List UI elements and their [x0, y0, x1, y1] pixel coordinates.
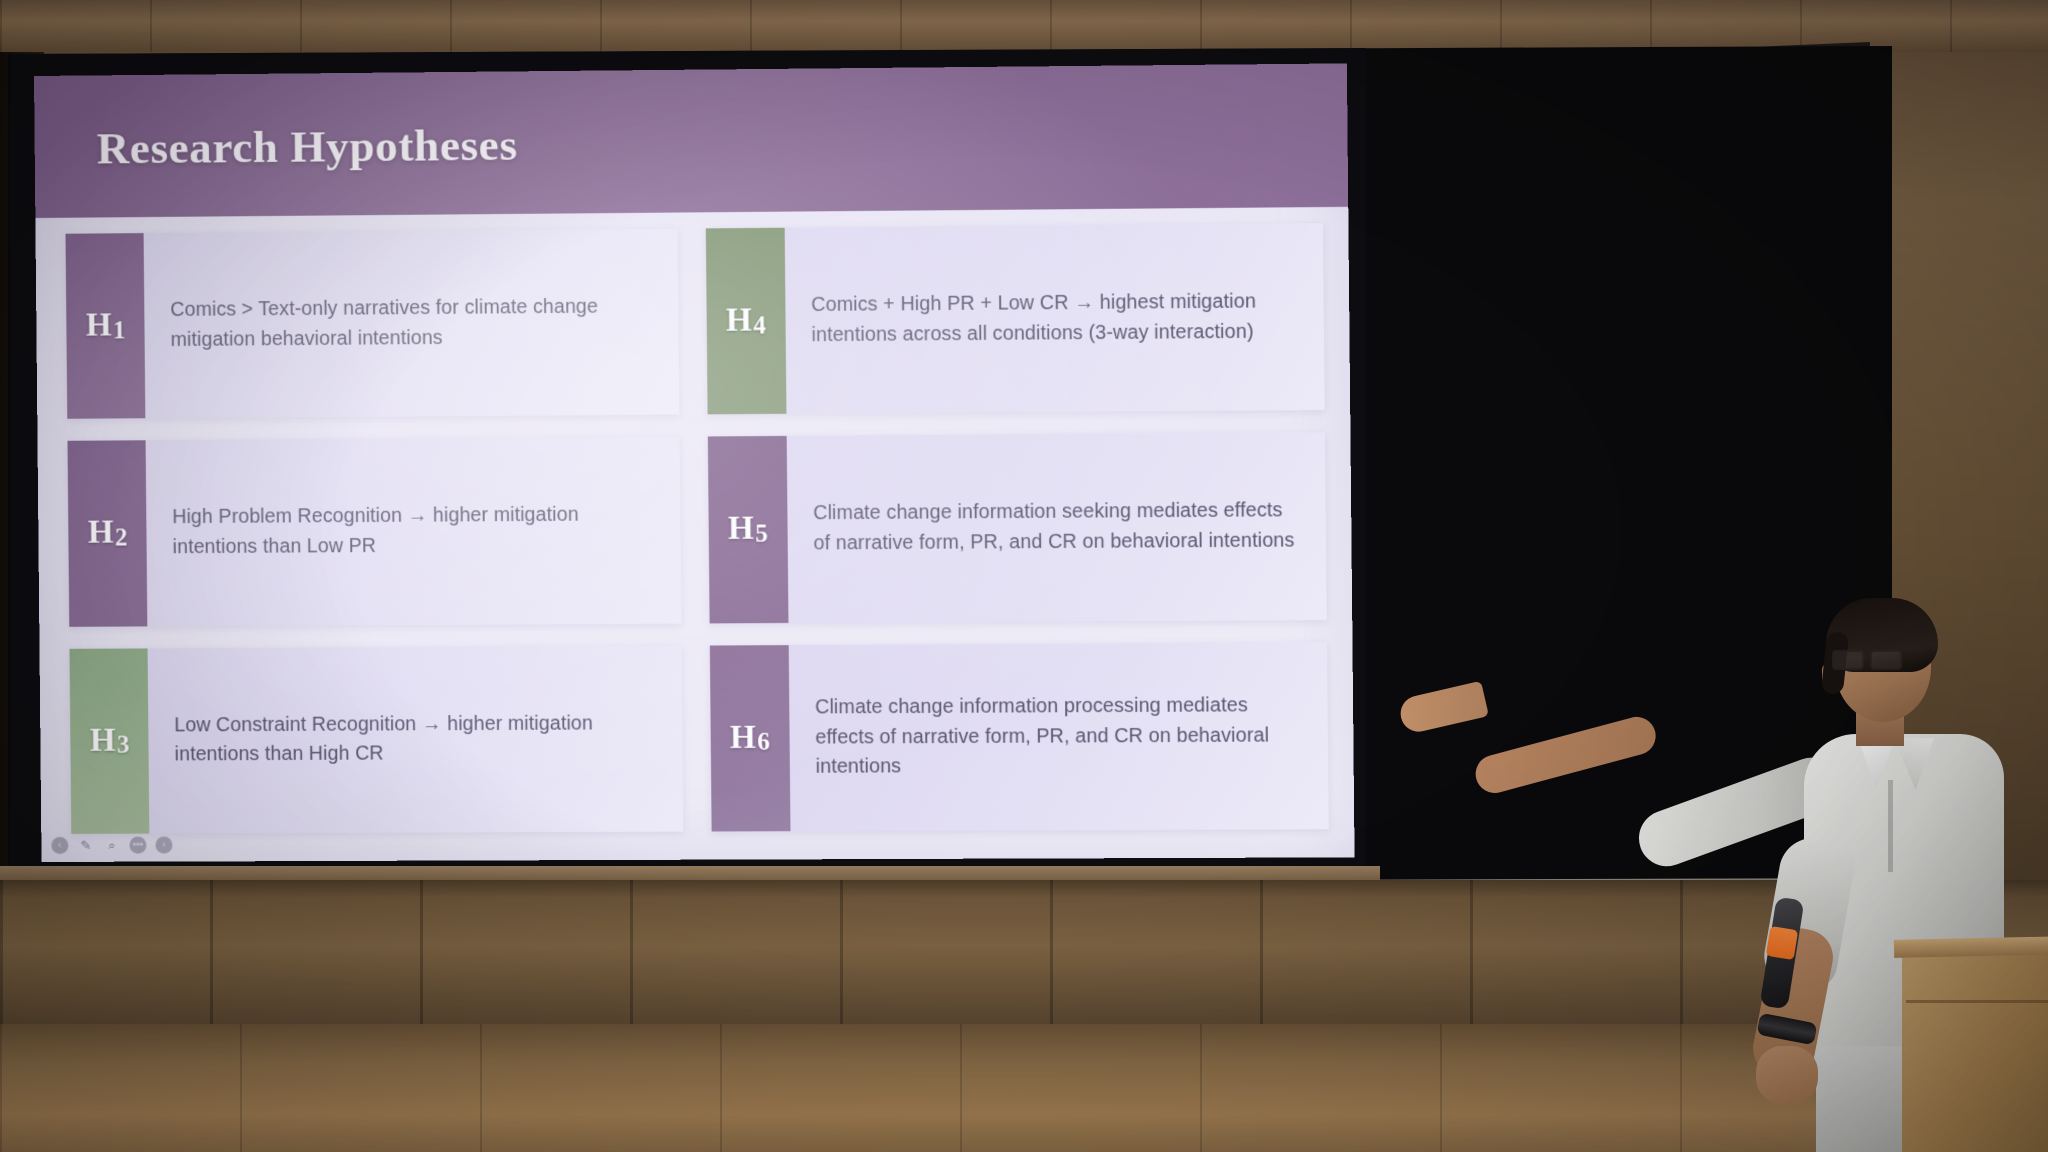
hypothesis-card-h3: H3 Low Constraint Recognition → higher m… [69, 645, 682, 834]
presenter-mic-hand [1756, 1046, 1818, 1104]
hypothesis-text-h6: Climate change information processing me… [788, 642, 1329, 831]
next-slide-icon[interactable]: › [155, 837, 172, 854]
badge-letter: H [88, 515, 115, 552]
podium-trim [1906, 1000, 2048, 1003]
zoom-icon[interactable]: ⌕ [103, 837, 120, 854]
hypothesis-text-h5: Climate change information seeking media… [786, 433, 1327, 623]
hypothesis-card-grid: H1 Comics > Text-only narratives for cli… [66, 223, 1329, 834]
hypothesis-text-h3: Low Constraint Recognition → higher miti… [148, 645, 683, 833]
badge-number: 4 [753, 312, 766, 340]
podium [1902, 948, 2048, 1152]
hypothesis-badge-h4: H4 [705, 228, 786, 415]
presenter-toolbar[interactable]: ‹ ✎ ⌕ ••• › [51, 837, 172, 854]
hypothesis-card-h5: H5 Climate change information seeking me… [707, 433, 1326, 623]
badge-letter: H [90, 722, 117, 759]
hypothesis-badge-h3: H3 [69, 648, 149, 834]
presentation-slide: Research Hypotheses H1 Comics > Text-onl… [34, 63, 1355, 862]
podium-top-surface [1894, 936, 2048, 958]
hypothesis-text-h1: Comics > Text-only narratives for climat… [144, 229, 679, 419]
badge-number: 3 [117, 732, 130, 760]
pen-icon[interactable]: ✎ [77, 837, 94, 854]
hypothesis-badge-h2: H2 [68, 441, 148, 627]
hypothesis-badge-h5: H5 [707, 436, 788, 623]
badge-number: 5 [755, 520, 768, 548]
wainscot-panel-lines [0, 880, 2048, 1028]
badge-number: 1 [113, 317, 126, 345]
badge-letter: H [730, 720, 757, 757]
slide-title: Research Hypotheses [96, 119, 517, 175]
presenter-shirt-placket [1888, 780, 1893, 872]
lecture-room-photo: Research Hypotheses H1 Comics > Text-onl… [0, 0, 2048, 1152]
badge-number: 6 [757, 729, 770, 757]
hypothesis-card-h1: H1 Comics > Text-only narratives for cli… [66, 229, 679, 419]
badge-letter: H [726, 303, 753, 340]
more-options-icon[interactable]: ••• [129, 837, 146, 854]
badge-number: 2 [115, 524, 128, 552]
hypothesis-card-h2: H2 High Problem Recognition → higher mit… [68, 437, 681, 627]
hypothesis-card-h4: H4 Comics + High PR + Low CR → highest m… [705, 223, 1324, 414]
hypothesis-text-h2: High Problem Recognition → higher mitiga… [146, 437, 681, 626]
previous-slide-icon[interactable]: ‹ [51, 837, 68, 854]
floor-panel-lines [0, 1024, 2048, 1152]
hypothesis-card-h6: H6 Climate change information processing… [709, 642, 1328, 831]
hypothesis-text-h4: Comics + High PR + Low CR → highest miti… [784, 223, 1325, 414]
hypothesis-badge-h6: H6 [709, 645, 790, 832]
presenter-glasses [1832, 650, 1904, 667]
hypothesis-badge-h1: H1 [66, 233, 146, 419]
microphone-orange-band [1766, 926, 1798, 960]
badge-letter: H [728, 511, 755, 548]
badge-letter: H [86, 308, 113, 345]
